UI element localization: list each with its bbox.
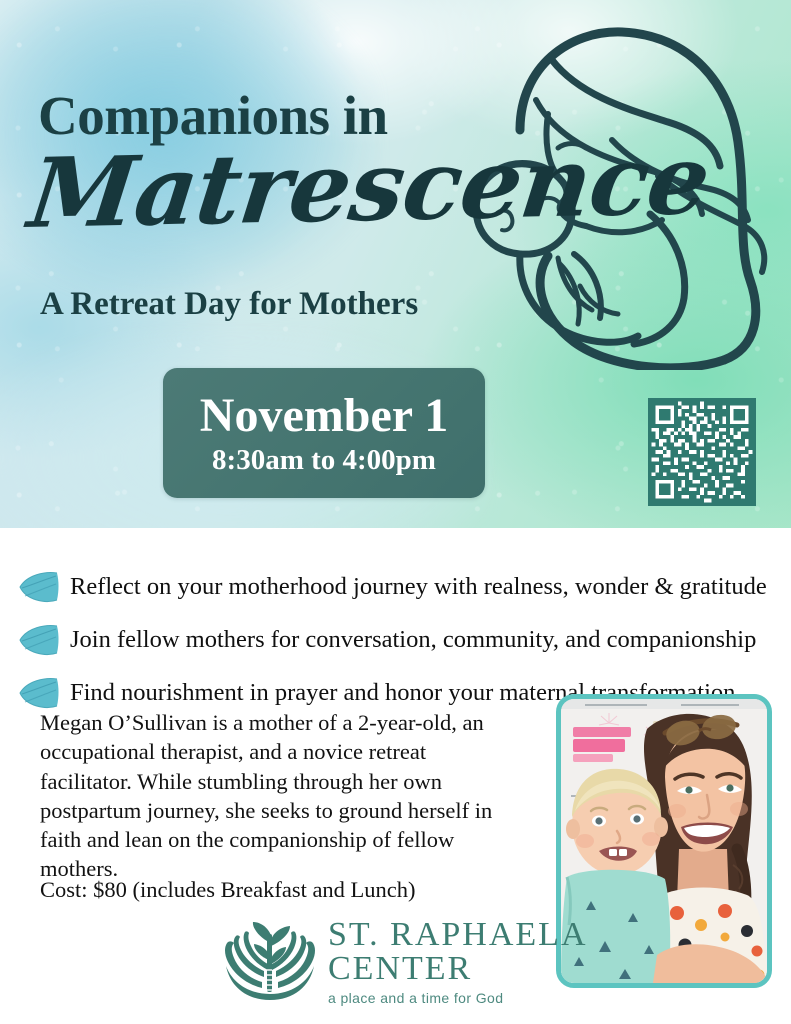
list-item-label: Join fellow mothers for conversation, co…: [70, 627, 756, 654]
registration-qr-code[interactable]: [648, 398, 756, 506]
cost-line: Cost: $80 (includes Breakfast and Lunch): [40, 875, 416, 904]
presenter-bio: Megan O’Sullivan is a mother of a 2-year…: [40, 708, 510, 884]
leaf-icon: [17, 676, 59, 710]
logo-wordmark: ST. RAPHAELA CENTER a place and a time f…: [328, 918, 588, 1006]
retreat-flyer: Companions in Matrescence A Retreat Day …: [0, 0, 791, 1024]
logo-line-1: ST. RAPHAELA: [328, 918, 588, 951]
flyer-subtitle: A Retreat Day for Mothers: [40, 288, 418, 321]
event-date: November 1: [200, 392, 448, 440]
list-item: Join fellow mothers for conversation, co…: [0, 619, 791, 661]
hands-holding-plant-icon: [222, 920, 318, 1004]
presenter-photo: [556, 694, 772, 988]
leaf-icon: [17, 623, 59, 657]
organization-logo: ST. RAPHAELA CENTER a place and a time f…: [222, 916, 562, 1008]
list-item: Reflect on your motherhood journey with …: [0, 566, 791, 608]
logo-line-2: CENTER: [328, 952, 588, 985]
flyer-title-script: Matrescence: [24, 132, 714, 242]
list-item-label: Reflect on your motherhood journey with …: [70, 574, 767, 601]
presenter-photo-image: [561, 699, 767, 983]
leaf-icon: [17, 570, 59, 604]
logo-tagline: a place and a time for God: [328, 990, 588, 1006]
event-time: 8:30am to 4:00pm: [212, 446, 436, 475]
date-badge: November 1 8:30am to 4:00pm: [163, 368, 485, 498]
